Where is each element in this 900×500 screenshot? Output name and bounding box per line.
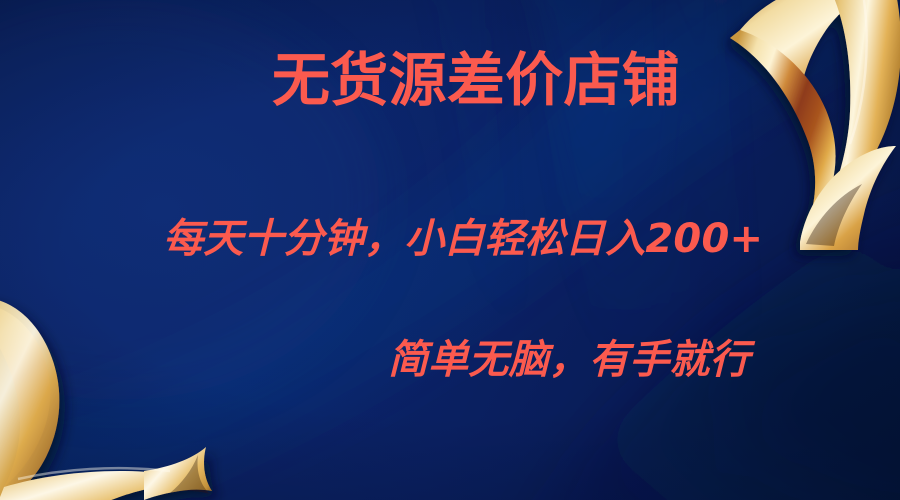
poster-canvas: 无货源差价店铺 每天十分钟，小白轻松日入200+ 简单无脑，有手就行 bbox=[0, 0, 900, 500]
subheadline-secondary: 简单无脑，有手就行 bbox=[388, 340, 750, 380]
subheadline-primary: 每天十分钟，小白轻松日入200+ bbox=[163, 219, 763, 259]
headline: 无货源差价店铺 bbox=[272, 51, 680, 109]
text-layer: 无货源差价店铺 每天十分钟，小白轻松日入200+ 简单无脑，有手就行 bbox=[0, 0, 900, 500]
